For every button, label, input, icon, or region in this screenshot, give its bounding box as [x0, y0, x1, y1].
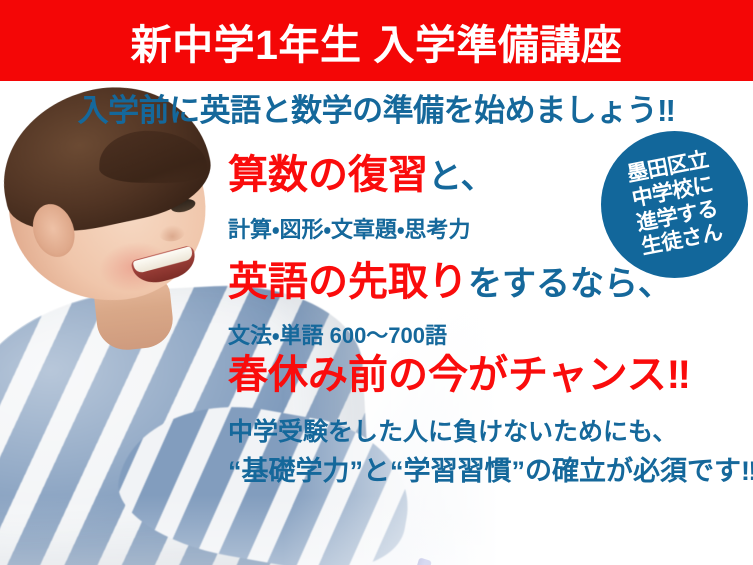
- header-bar: 新中学1年生 入学準備講座: [0, 0, 753, 81]
- closing-line-2: “基礎学力”と“学習習慣”の確立が必須です‼: [228, 449, 753, 488]
- closing-line-1: 中学受験をした人に負けないためにも、: [228, 412, 677, 448]
- headline-english: 英語の先取りをするなら、: [228, 262, 672, 302]
- headline-english-emphasis: 英語の先取り: [228, 260, 468, 304]
- page-title: 新中学1年生 入学準備講座: [0, 0, 753, 81]
- subpoint-english: 文法・単語 600〜700語: [228, 318, 447, 350]
- headline-math-tail: と、: [428, 158, 495, 196]
- boy-nose: [158, 224, 186, 243]
- audience-badge: 墨田区立 中学校に 進学する 生徒さん: [601, 131, 748, 278]
- audience-badge-text: 墨田区立 中学校に 進学する 生徒さん: [625, 148, 724, 261]
- headline-math-emphasis: 算数の復習: [228, 153, 428, 197]
- subtitle: 入学前に英語と数学の準備を始めましょう‼: [0, 85, 753, 130]
- photo-fade-bottom: [0, 495, 753, 565]
- subpoint-math: 計算・図形・文章題・思考力: [228, 212, 470, 244]
- promo-banner: 新中学1年生 入学準備講座 墨田区立 中学校に 進学する 生徒さん 入学前に英語…: [0, 0, 753, 565]
- headline-chance: 春休み前の今がチャンス‼: [228, 355, 691, 395]
- headline-english-tail: をするなら、: [468, 265, 672, 303]
- headline-math: 算数の復習と、: [228, 155, 495, 195]
